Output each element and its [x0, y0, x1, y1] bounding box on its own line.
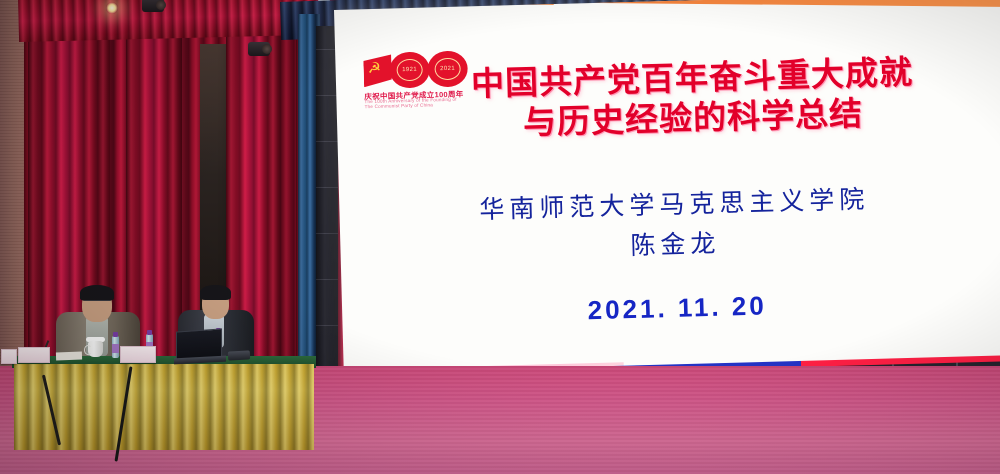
- stage-light-icon: [142, 0, 164, 12]
- name-card-left: [18, 347, 50, 363]
- speaker-hair: [200, 285, 231, 300]
- slide-title: 中国共产党百年奋斗重大成就 与历史经验的科学总结: [392, 50, 994, 146]
- water-bottle-1: [112, 336, 119, 358]
- lamp-glow-icon: [106, 2, 118, 14]
- papers-on-table: [56, 352, 82, 361]
- hammer-and-sickle-icon: ☭: [367, 60, 384, 78]
- name-card-right: [120, 346, 156, 363]
- slide-date: 2021. 11. 20: [342, 284, 1000, 333]
- stage-light-icon: [248, 42, 270, 56]
- led-screen-slide: ☭ 1921 2021 庆祝中国共产党成立100周年 The 100th Ann…: [334, 0, 1000, 388]
- lecture-hall-photo: ☭ 1921 2021 庆祝中国共产党成立100周年 The 100th Ann…: [0, 0, 1000, 474]
- bottle-cap: [113, 332, 118, 337]
- bottle-label: [112, 344, 119, 353]
- mobile-phone: [228, 350, 250, 360]
- red-valance: [18, 0, 319, 42]
- moderator-glasses-icon: [84, 300, 110, 306]
- moderator-hair: [80, 285, 114, 301]
- tea-cup-with-lid: [88, 341, 103, 357]
- bottle-cap: [147, 330, 152, 335]
- name-card-far-left: [1, 349, 17, 364]
- screen-left-frame: [316, 26, 338, 418]
